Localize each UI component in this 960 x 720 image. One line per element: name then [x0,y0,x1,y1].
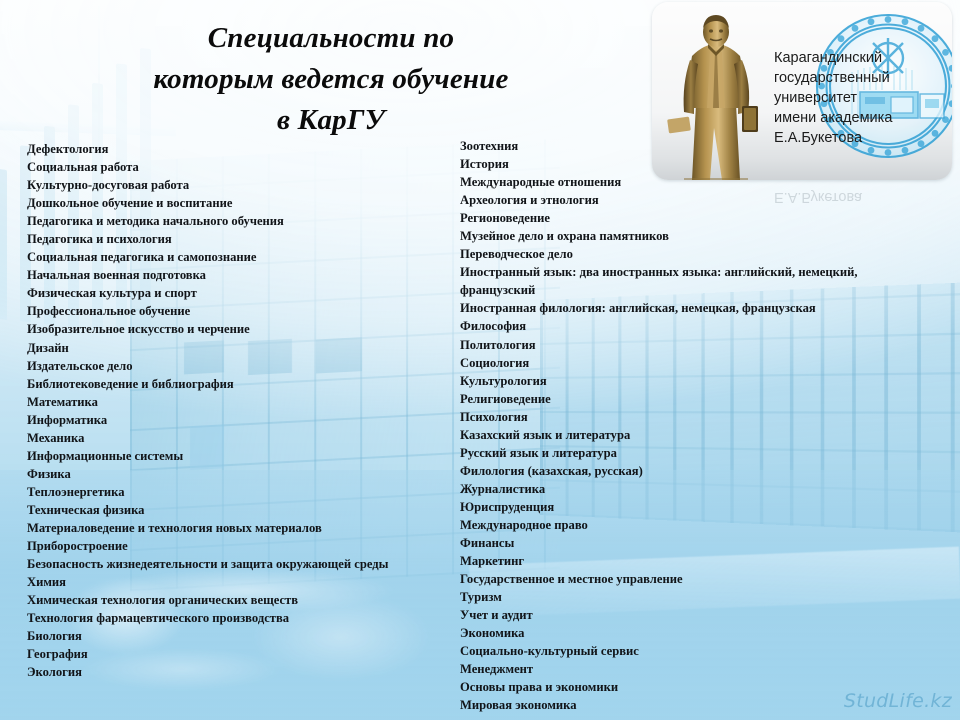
specialty-item: Журналистика [460,480,930,498]
specialty-item: Государственное и местное управление [460,570,930,588]
specialty-item: Информационные системы [27,447,457,465]
specialty-item: Дефектология [27,140,457,158]
specialty-item: Техническая физика [27,501,457,519]
specialty-item: Химическая технология органических вещес… [27,591,457,609]
title-line-2: которым ведется обучение [96,59,566,100]
specialty-item: Культурно-досуговая работа [27,176,457,194]
specialty-item: Дизайн [27,339,457,357]
banner-text-line-1: Карагандинский [774,48,952,68]
specialty-item: Биология [27,627,457,645]
specialty-item: Изобразительное искусство и черчение [27,320,457,338]
specialty-item: Социальная педагогика и самопознание [27,248,457,266]
specialty-item: Приборостроение [27,537,457,555]
specialty-item: Юриспруденция [460,498,930,516]
specialty-item: Библиотековедение и библиография [27,375,457,393]
banner-university-name: Карагандинский государственный университ… [774,48,952,148]
specialty-item: Международные отношения [460,173,930,191]
specialty-item: Химия [27,573,457,591]
banner-text-line-2: государственный [774,68,952,88]
specialty-item: Издательское дело [27,357,457,375]
banner-text-line-5: Е.А.Букетова [774,128,952,148]
page-title: Специальности по которым ведется обучени… [96,18,566,142]
specialty-item: Социальная работа [27,158,457,176]
specialty-item: Музейное дело и охрана памятников [460,227,930,245]
specialty-item: Педагогика и методика начального обучени… [27,212,457,230]
specialty-item: Безопасность жизнедеятельности и защита … [27,555,457,573]
specialty-item: Культурология [460,372,930,390]
specialty-item: Иностранный язык: два иностранных языка:… [460,263,930,299]
specialty-item: Русский язык и литература [460,444,930,462]
specialty-item: Маркетинг [460,552,930,570]
specialties-column-left: ДефектологияСоциальная работаКультурно-д… [27,140,457,681]
specialty-item: Математика [27,393,457,411]
specialty-item: Экономика [460,624,930,642]
specialty-item: Материаловедение и технология новых мате… [27,519,457,537]
specialty-item: Регионоведение [460,209,930,227]
specialty-item: Физика [27,465,457,483]
specialty-item: Филология (казахская, русская) [460,462,930,480]
specialty-item: Начальная военная подготовка [27,266,457,284]
banner-text-line-3: университет [774,88,952,108]
specialties-column-right: ЗоотехнияИсторияМеждународные отношенияА… [460,137,930,715]
specialty-item: Казахский язык и литература [460,426,930,444]
specialty-item: Иностранная филология: английская, немец… [460,299,930,317]
title-line-1: Специальности по [96,18,566,59]
specialty-item: Учет и аудит [460,606,930,624]
specialty-item: Политология [460,336,930,354]
title-line-3: в КарГУ [96,100,566,141]
specialty-item: Международное право [460,516,930,534]
specialty-item: Педагогика и психология [27,230,457,248]
specialty-item: Психология [460,408,930,426]
specialty-item: Технология фармацевтического производств… [27,609,457,627]
specialty-item: Переводческое дело [460,245,930,263]
specialty-item: Социология [460,354,930,372]
specialty-item: Экология [27,663,457,681]
specialty-item: Социально-культурный сервис [460,642,930,660]
specialty-item: Механика [27,429,457,447]
specialty-item: Информатика [27,411,457,429]
specialty-item: Финансы [460,534,930,552]
banner-text-line-4: имени академика [774,108,952,128]
studlife-watermark: StudLife.kz [844,690,952,712]
specialty-item: Теплоэнергетика [27,483,457,501]
presentation-slide: Специальности по которым ведется обучени… [0,0,960,720]
specialty-item: Археология и этнология [460,191,930,209]
specialty-item: Туризм [460,588,930,606]
specialty-item: География [27,645,457,663]
specialty-item: Профессиональное обучение [27,302,457,320]
specialty-item: Религиоведение [460,390,930,408]
specialty-item: Физическая культура и спорт [27,284,457,302]
specialty-item: Менеджмент [460,660,930,678]
specialty-item: Философия [460,317,930,335]
specialty-item: Дошкольное обучение и воспитание [27,194,457,212]
